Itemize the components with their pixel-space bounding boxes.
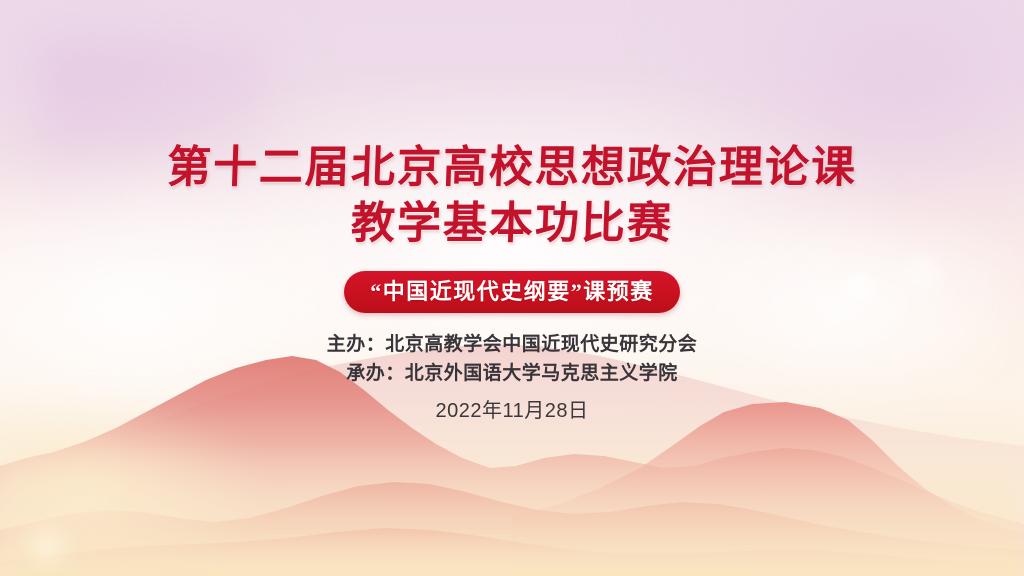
title-slide: 第十二届北京高校思想政治理论课 教学基本功比赛 “中国近现代史纲要”课预赛 主办… — [0, 0, 1024, 576]
title-line-1: 第十二届北京高校思想政治理论课 — [0, 140, 1024, 196]
page-title: 第十二届北京高校思想政治理论课 教学基本功比赛 — [0, 140, 1024, 252]
status-badge: “中国近现代史纲要”课预赛 — [344, 271, 680, 313]
slide-content: 第十二届北京高校思想政治理论课 教学基本功比赛 “中国近现代史纲要”课预赛 主办… — [0, 0, 1024, 576]
organizer-undertaker: 承办：北京外国语大学马克思主义学院 — [0, 359, 1024, 388]
title-line-2: 教学基本功比赛 — [0, 196, 1024, 252]
organizer-host: 主办：北京高教学会中国近现代史研究分会 — [0, 330, 1024, 359]
subtitle-badge-wrapper: “中国近现代史纲要”课预赛 — [0, 271, 1024, 313]
organizer-block: 主办：北京高教学会中国近现代史研究分会 承办：北京外国语大学马克思主义学院 — [0, 330, 1024, 388]
event-date: 2022年11月28日 — [0, 398, 1024, 424]
